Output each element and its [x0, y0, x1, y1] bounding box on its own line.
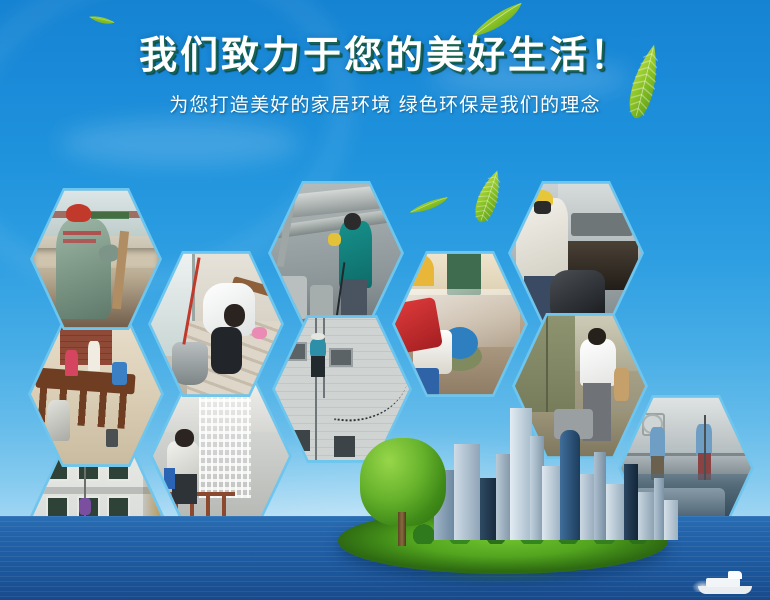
boat-icon — [698, 568, 752, 594]
photo-detail-legs — [311, 356, 324, 377]
photo-detail-mach — [279, 276, 308, 319]
hex-stairs-mopping[interactable] — [148, 248, 284, 400]
photo-detail-face — [534, 201, 551, 214]
photo-detail-w1 — [65, 350, 78, 376]
photo-p9 — [153, 381, 289, 531]
photo-detail-shirt — [580, 339, 616, 386]
photo-detail-head — [175, 429, 194, 447]
photo-detail-arch — [405, 254, 434, 286]
photo-detail-cap — [66, 204, 91, 222]
banner-stage: 我们致力于您的美好生活！ 为您打造美好的家居环境 绿色环保是我们的理念 — [0, 0, 770, 600]
banner-text-block: 我们致力于您的美好生活！ 为您打造美好的家居环境 绿色环保是我们的理念 — [0, 0, 770, 117]
photo-p4 — [151, 251, 281, 397]
photo-detail-plank — [112, 230, 129, 309]
photo-detail-w3 — [47, 400, 70, 441]
island-reflection — [360, 572, 640, 600]
hex-photo-clip — [33, 188, 159, 330]
photo-detail-glove — [328, 233, 341, 246]
hex-photo-clip — [151, 251, 281, 397]
hex-demolition-worker[interactable] — [30, 185, 162, 333]
boat-deck — [706, 578, 740, 587]
hex-kitchen-hood-cleaning[interactable] — [508, 178, 644, 328]
photo-p7 — [31, 321, 161, 467]
photo-detail-legs — [211, 327, 242, 374]
photo-detail-worker — [339, 221, 373, 287]
photo-detail-hood — [571, 213, 633, 236]
photo-p5 — [395, 251, 525, 397]
city-skyline — [430, 390, 690, 540]
hex-photo-clip — [31, 321, 161, 467]
photo-detail-txt — [63, 231, 101, 235]
photo-detail-w1 — [283, 342, 307, 361]
hex-handrail-painting[interactable] — [28, 318, 164, 470]
photo-detail-w2 — [88, 341, 100, 370]
hex-photo-clip — [511, 181, 641, 325]
photo-detail-hose — [334, 362, 409, 428]
photo-detail-hat — [311, 333, 324, 340]
photo-detail-head — [224, 304, 245, 327]
page-title: 我们致力于您的美好生活！ — [0, 36, 770, 76]
photo-detail-band — [33, 487, 161, 494]
photo-detail-bucket — [172, 342, 208, 386]
photo-detail-crys — [199, 381, 251, 498]
hex-photo-clip — [153, 381, 289, 531]
photo-detail-can — [106, 429, 118, 447]
hex-chandelier-cleaning[interactable] — [150, 378, 292, 534]
photo-detail-w4 — [334, 436, 355, 457]
tree-trunk — [398, 512, 406, 546]
photo-p3 — [511, 181, 641, 325]
photo-detail-hand — [252, 327, 266, 339]
tree-icon — [360, 438, 446, 546]
photo-detail-txt2 — [63, 239, 96, 243]
photo-detail-mach — [112, 362, 128, 385]
photo-detail-w3 — [288, 430, 309, 451]
hex-duct-cleaning[interactable] — [268, 178, 404, 328]
photo-p2 — [271, 181, 401, 325]
photo-detail-man — [79, 498, 91, 514]
photo-p1 — [33, 188, 159, 330]
photo-detail-blue — [164, 468, 175, 489]
photo-detail-legs — [172, 474, 196, 504]
boat-cabin — [728, 571, 742, 579]
hex-photo-clip — [271, 181, 401, 325]
page-subtitle: 为您打造美好的家居环境 绿色环保是我们的理念 — [0, 90, 770, 117]
photo-detail-grn — [91, 212, 129, 219]
photo-detail-head — [588, 328, 606, 346]
photo-detail-pole — [704, 415, 706, 479]
photo-detail-red — [395, 296, 443, 354]
boat-hull — [698, 586, 752, 594]
photo-detail-head — [344, 213, 361, 230]
hex-carpet-extraction[interactable] — [392, 248, 528, 400]
hex-photo-clip — [395, 251, 525, 397]
